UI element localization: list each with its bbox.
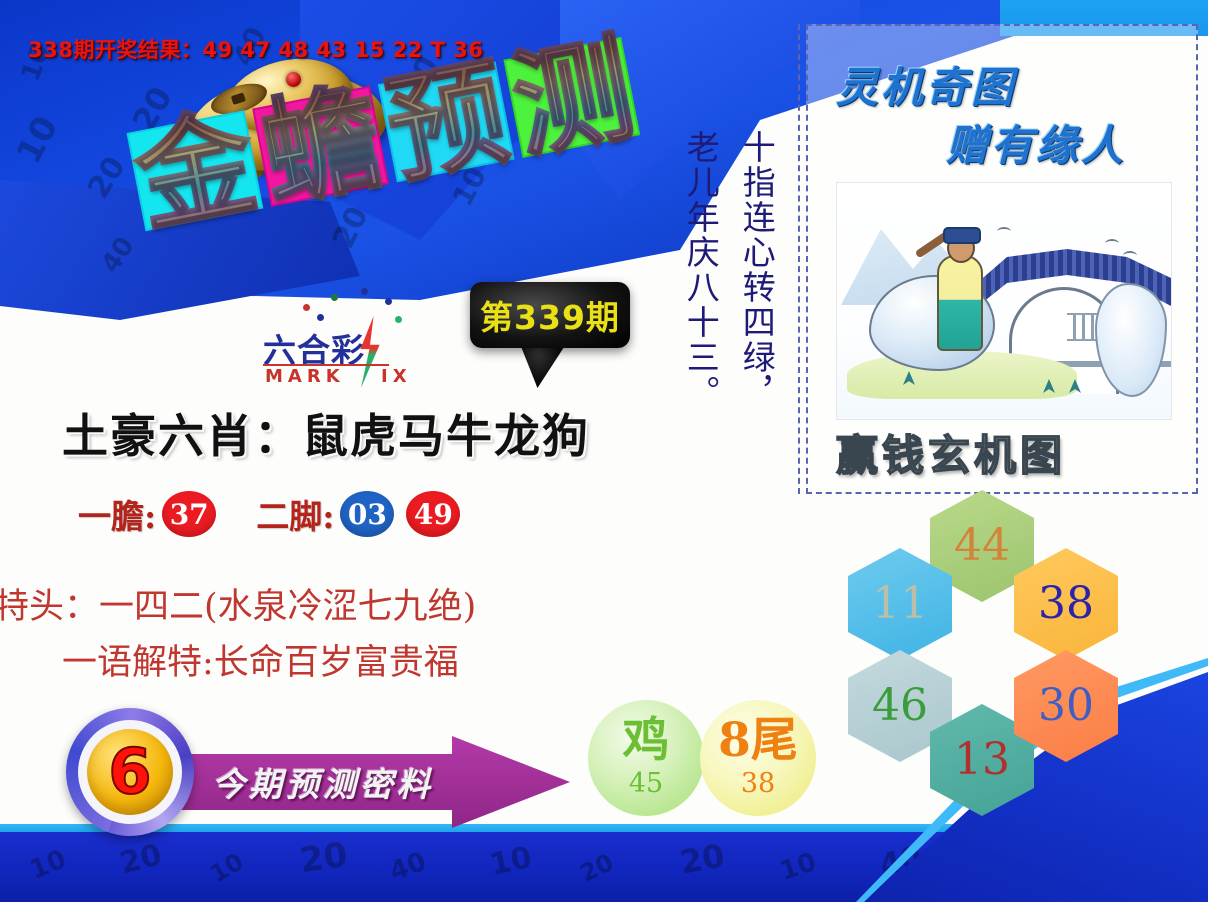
arrow-banner-label: 今期预测密料 bbox=[212, 758, 434, 806]
bubble-tail-main: 8尾 bbox=[718, 717, 798, 764]
decor-ticket-number: 20 bbox=[297, 835, 349, 881]
decor-ticket-number: 10 bbox=[205, 848, 248, 889]
decor-ticket-number: 20 bbox=[576, 848, 618, 888]
mystic-chart-title: 灵机奇图 赠有缘人 bbox=[836, 54, 1186, 174]
poster-canvas: 102010204010202010402010 102010204010202… bbox=[0, 0, 1208, 902]
hexagon-number-value: 11 bbox=[872, 582, 928, 626]
title-char-1-box: 金 bbox=[120, 96, 269, 252]
poem-column-left: 老儿年庆八十三。 bbox=[681, 130, 719, 410]
logo-dot-green bbox=[331, 294, 338, 301]
vertical-divider bbox=[798, 24, 800, 494]
mystic-title-line2: 赠有缘人 bbox=[946, 112, 1126, 173]
number-circle-badge: 6 bbox=[66, 708, 194, 836]
logo-dot-navy3 bbox=[317, 314, 324, 321]
decor-ticket-number: 20 bbox=[81, 151, 133, 205]
te-tou-line: 特头：一四二(水泉冷涩七九绝) bbox=[0, 578, 476, 629]
illustration-person-hat bbox=[943, 227, 981, 244]
draw-result-line: 338期开奖结果：49 47 48 43 15 22 T 36 bbox=[28, 34, 483, 64]
hexagon-number-cluster: 441138461330 bbox=[826, 490, 1136, 800]
illustration-bird-3 bbox=[1123, 251, 1137, 260]
issue-badge-tail bbox=[520, 344, 566, 388]
mystic-illustration bbox=[836, 182, 1172, 420]
hexagon-number-value: 44 bbox=[954, 524, 1010, 568]
hexagon-number-value: 38 bbox=[1038, 582, 1094, 626]
circle-gold-ring: 6 bbox=[87, 729, 173, 815]
logo-english-left: MARK bbox=[265, 366, 345, 387]
bubble-zodiac: 鸡 45 bbox=[588, 700, 704, 816]
title-char-3-box: 预 bbox=[371, 47, 520, 203]
six-zodiac-line: 土豪六肖：鼠虎马牛龙狗 bbox=[62, 400, 590, 466]
mystic-title-line1: 灵机奇图 bbox=[836, 54, 1016, 115]
prediction-balls-row: 一膽: 37 二脚: 03 49 bbox=[78, 490, 466, 538]
hexagon-number-value: 30 bbox=[1038, 684, 1094, 728]
jiao-ball-1: 03 bbox=[340, 491, 394, 537]
decor-ticket-number: 40 bbox=[96, 232, 141, 279]
decor-ticket-number: 20 bbox=[677, 836, 727, 881]
bubble-tail-sub: 38 bbox=[741, 768, 775, 799]
decor-ticket-number: 10 bbox=[487, 840, 535, 883]
decor-ticket-number: 20 bbox=[116, 837, 165, 881]
decor-ticket-number: 10 bbox=[776, 847, 820, 887]
title-char-2-box: 蟾 bbox=[246, 72, 395, 228]
decor-ticket-number: 40 bbox=[386, 847, 430, 888]
circle-number: 6 bbox=[108, 741, 151, 803]
poem-column-right: 十指连心转四绿， bbox=[737, 130, 775, 410]
issue-badge: 第339期 bbox=[470, 282, 630, 348]
mystic-chart-subtitle: 赢钱玄机图 bbox=[836, 422, 1176, 483]
logo-dot-red bbox=[303, 304, 310, 311]
mark-six-logo: 六合彩 MARK IX bbox=[255, 310, 425, 390]
bubble-zodiac-sub: 45 bbox=[629, 768, 663, 799]
illustration-person-robe bbox=[937, 255, 983, 351]
bubble-tail: 8尾 38 bbox=[700, 700, 816, 816]
jiao-ball-2: 49 bbox=[406, 491, 460, 537]
dan-ball: 37 bbox=[162, 491, 216, 537]
illustration-bird-2 bbox=[1105, 239, 1119, 248]
dan-label: 一膽: bbox=[78, 490, 156, 538]
logo-dot-teal bbox=[395, 316, 402, 323]
logo-english-right: IX bbox=[381, 366, 412, 387]
hexagon-number-value: 13 bbox=[954, 738, 1010, 782]
circle-white-ring: 6 bbox=[78, 720, 182, 824]
decor-ticket-number: 10 bbox=[9, 110, 67, 171]
logo-dot-navy2 bbox=[385, 298, 392, 305]
jiao-label: 二脚: bbox=[256, 490, 334, 538]
issue-badge-label: 第339期 bbox=[480, 291, 620, 339]
hexagon-number-value: 46 bbox=[872, 684, 928, 728]
bubble-zodiac-main: 鸡 bbox=[623, 717, 670, 764]
illustration-bird-1 bbox=[997, 227, 1011, 236]
yi-yu-jie-te-line: 一语解特:长命百岁富贵福 bbox=[62, 634, 459, 685]
title-char-4: 测 bbox=[497, 22, 650, 179]
decor-ticket-number: 10 bbox=[26, 844, 71, 885]
title-char-4-box: 测 bbox=[497, 23, 646, 179]
logo-dot-navy bbox=[361, 288, 368, 295]
